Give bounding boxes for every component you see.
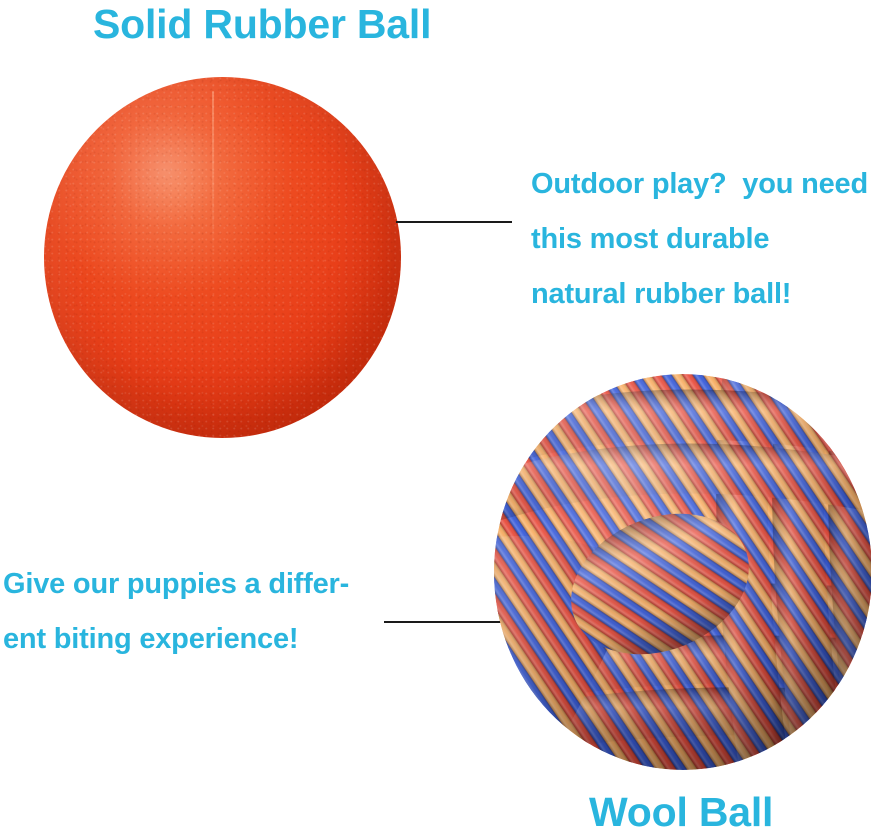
wool-rope-ball-image [492, 372, 871, 772]
rubber-ball-leader-line [396, 221, 512, 223]
rope-knot-coils [492, 372, 871, 772]
rubber-ball-title: Solid Rubber Ball [93, 1, 431, 48]
wool-ball-callout-text: Give our puppies a differ- ent biting ex… [3, 557, 349, 667]
wool-ball-title: Wool Ball [589, 789, 773, 836]
rubber-ball-texture [44, 77, 401, 438]
rubber-ball-seam [212, 91, 214, 257]
solid-rubber-ball-image [44, 77, 401, 438]
rubber-ball-callout-text: Outdoor play? you need this most durable… [531, 157, 868, 322]
product-infographic: Solid Rubber Ball Outdoor play? you need… [0, 0, 871, 840]
